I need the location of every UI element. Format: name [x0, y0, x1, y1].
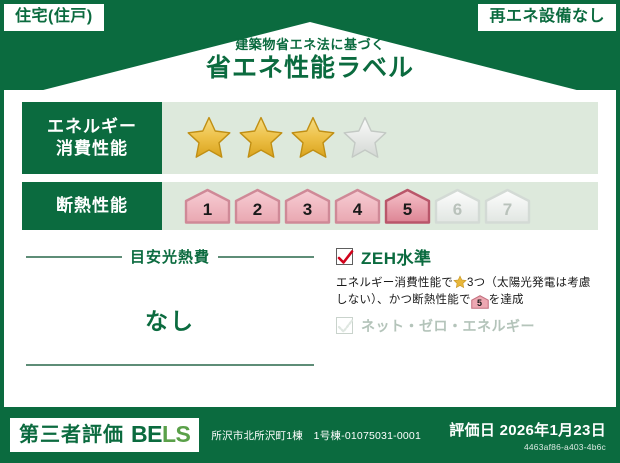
label-footer: 第三者評価 BELS 所沢市北所沢町1棟 1号棟-01075031-0001 評…: [4, 411, 616, 459]
renewable-equipment-tag: 再エネ設備なし: [478, 4, 616, 31]
insulation-performance-row: 断熱性能 1234567: [22, 182, 598, 230]
insulation-badge-value: 5: [403, 201, 412, 224]
zeh-desc-part1: エネルギー消費性能で: [336, 277, 453, 289]
utility-cost-value: なし: [22, 302, 318, 336]
zeh-desc-part3: を達成: [489, 294, 524, 306]
evaluation-date-block: 評価日 2026年1月23日 4463af86-a403-4b6c: [449, 419, 606, 452]
insulation-badge-1: 1: [184, 188, 231, 224]
insulation-label: 断熱性能: [56, 195, 128, 217]
utility-cost-bottom-rule: [26, 364, 314, 366]
insulation-badge-6: 6: [434, 188, 481, 224]
insulation-badge-value: 4: [353, 201, 362, 224]
insulation-badge-value: 3: [303, 201, 312, 224]
insulation-badge-2: 2: [234, 188, 281, 224]
insulation-badge-3: 3: [284, 188, 331, 224]
label-title: 省エネ性能ラベル: [0, 53, 620, 84]
net-zero-checkbox[interactable]: [336, 317, 353, 334]
zeh-description: エネルギー消費性能で3つ（太陽光発電は考慮しない）、かつ断熱性能で5を達成: [336, 275, 598, 309]
rule-right: [218, 256, 314, 258]
check-icon: [335, 247, 356, 268]
third-party-eval-text: 第三者評価: [19, 425, 124, 445]
insulation-badge-4: 4: [334, 188, 381, 224]
insulation-level-scale: 1234567: [184, 188, 531, 224]
certificate-hash: 4463af86-a403-4b6c: [449, 442, 606, 452]
bels-wordmark: BELS: [131, 423, 190, 446]
energy-performance-value-cell: [162, 102, 598, 174]
energy-performance-label: 住宅(住戸) 再エネ設備なし 建築物省エネ法に基づく 省エネ性能ラベル エネルギ…: [0, 0, 620, 463]
evaluation-date: 評価日 2026年1月23日: [449, 419, 606, 440]
net-zero-label: ネット・ゼロ・エネルギー: [361, 316, 535, 336]
rule-left: [26, 256, 122, 258]
building-type-tag: 住宅(住戸): [4, 4, 104, 31]
star-filled-icon: [288, 114, 338, 162]
label-title-block: 建築物省エネ法に基づく 省エネ性能ラベル: [0, 38, 620, 85]
net-zero-row: ネット・ゼロ・エネルギー: [336, 316, 598, 336]
bels-wordmark-dark: BE: [131, 421, 162, 447]
insulation-badge-value: 7: [503, 201, 512, 224]
insulation-badge-value: 6: [453, 201, 462, 224]
mini-insulation-badge: 5: [471, 295, 489, 309]
zeh-title-row: ZEH水準: [336, 244, 598, 269]
site-info: 所沢市北所沢町1棟 1号棟-01075031-0001: [211, 428, 421, 443]
insulation-badge-value: 2: [253, 201, 262, 224]
insulation-badge-value: 1: [203, 201, 212, 224]
bels-logo: 第三者評価 BELS: [10, 418, 199, 452]
insulation-badge-5: 5: [384, 188, 431, 224]
check-icon-faded: [335, 316, 356, 337]
energy-label-line1: エネルギー: [47, 116, 137, 138]
energy-performance-row: エネルギー 消費性能: [22, 102, 598, 174]
energy-performance-label-cell: エネルギー 消費性能: [22, 102, 162, 174]
star-empty-icon: [340, 114, 390, 162]
utility-cost-block: 目安光熱費 なし: [22, 240, 318, 370]
star-filled-icon: [236, 114, 286, 162]
label-subtitle: 建築物省エネ法に基づく: [0, 38, 620, 52]
bels-wordmark-light: LS: [162, 421, 190, 447]
zeh-block: ZEH水準 エネルギー消費性能で3つ（太陽光発電は考慮しない）、かつ断熱性能で5…: [318, 240, 598, 370]
zeh-title: ZEH水準: [361, 244, 432, 269]
mini-badge-value: 5: [471, 295, 489, 312]
energy-label-line2: 消費性能: [56, 138, 128, 160]
utility-cost-heading: 目安光熱費: [22, 246, 318, 267]
mini-star-icon: [453, 275, 467, 289]
lower-section: 目安光熱費 なし ZEH水準 エネルギー消費性能で3つ（太陽光発電は考慮しな: [22, 240, 598, 370]
utility-cost-heading-text: 目安光熱費: [130, 246, 210, 267]
zeh-checkbox[interactable]: [336, 248, 353, 265]
label-body: エネルギー 消費性能 断熱性能 1234567 目安光熱費: [4, 90, 616, 407]
insulation-performance-label-cell: 断熱性能: [22, 182, 162, 230]
star-filled-icon: [184, 114, 234, 162]
insulation-performance-value-cell: 1234567: [162, 182, 598, 230]
star-rating: [184, 114, 390, 162]
insulation-badge-7: 7: [484, 188, 531, 224]
